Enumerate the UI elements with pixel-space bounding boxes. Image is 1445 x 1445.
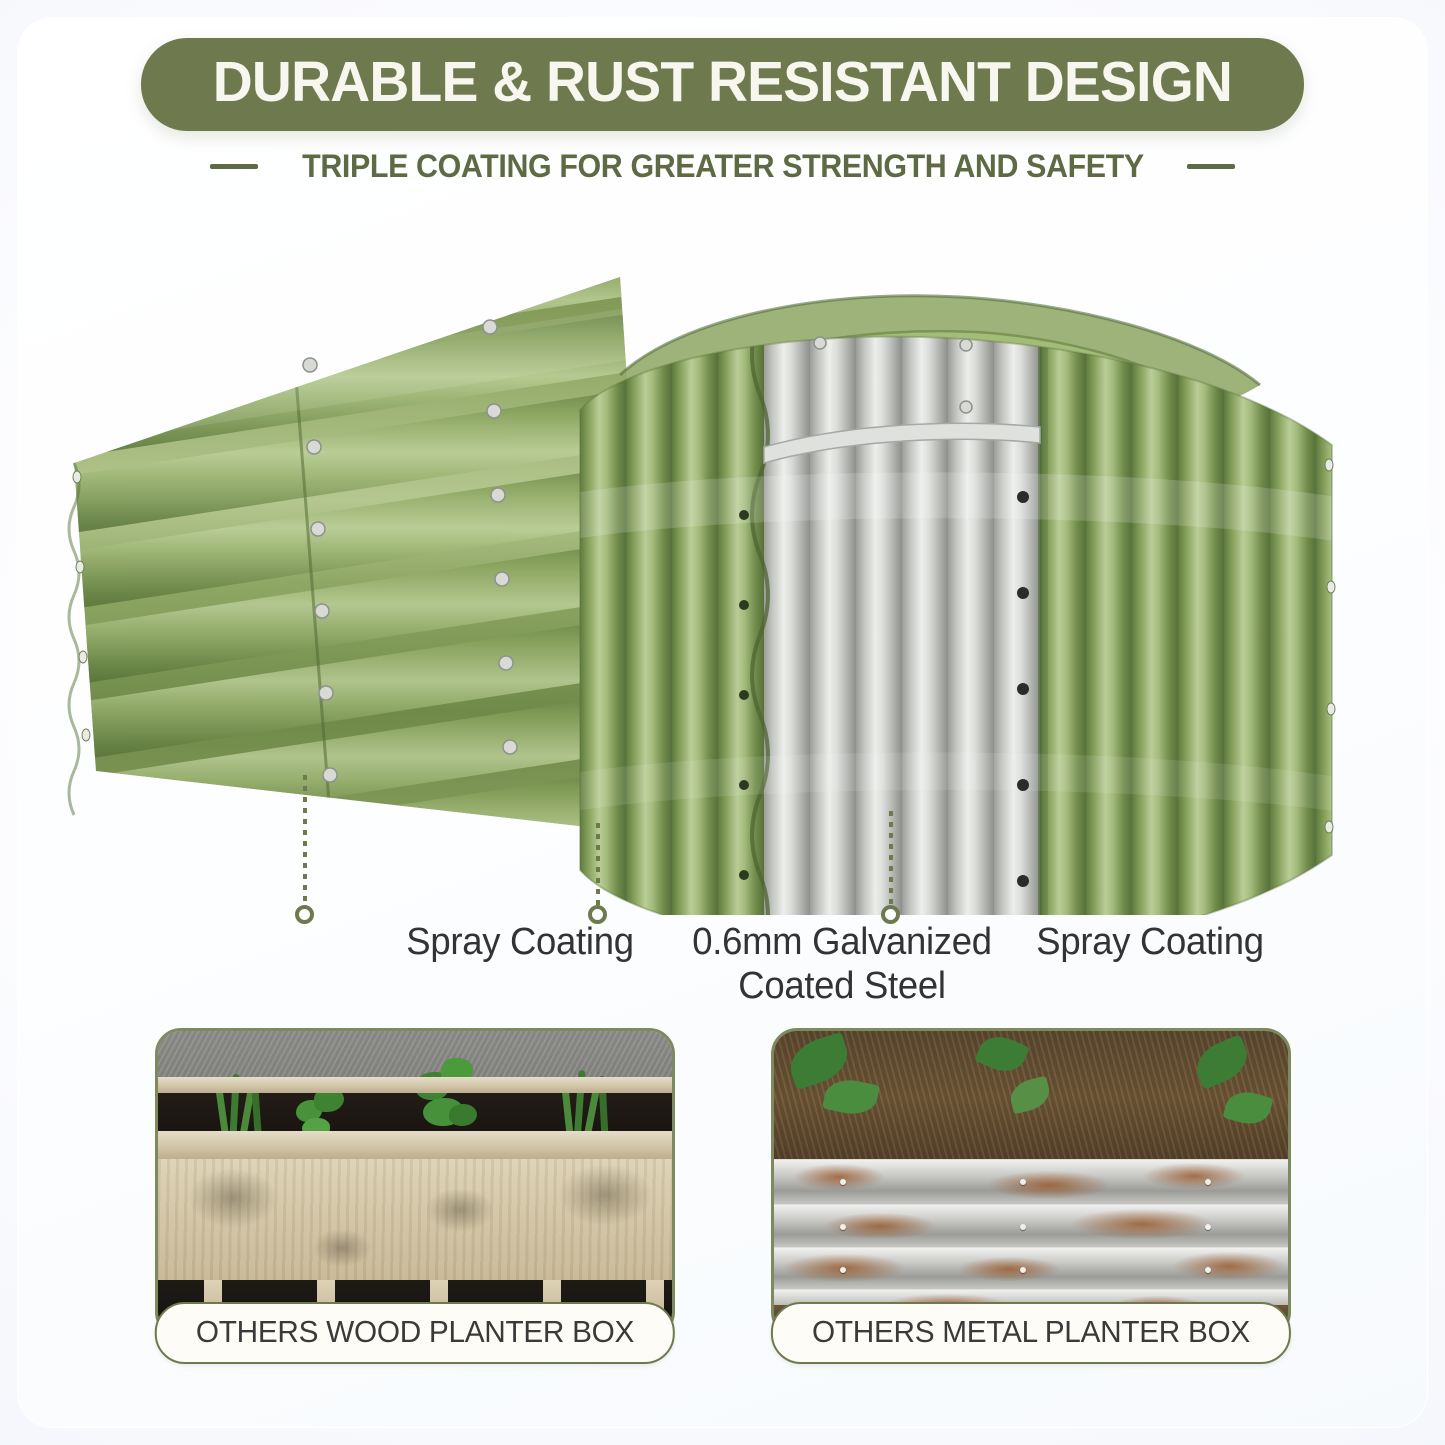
dash-right-icon bbox=[1187, 164, 1235, 169]
flat-green-panel bbox=[60, 233, 660, 915]
cylinder-cutaway bbox=[560, 296, 1362, 915]
dash-left-icon bbox=[210, 164, 258, 169]
leader-line-2 bbox=[596, 823, 600, 905]
caption-metal-planter: OTHERS METAL PLANTER BOX bbox=[770, 1302, 1290, 1364]
corrugated-panel-cutaway-graphic bbox=[60, 215, 1390, 915]
caption-text: OTHERS METAL PLANTER BOX bbox=[812, 1314, 1250, 1350]
callout-text-line1: 0.6mm Galvanized bbox=[679, 920, 1005, 964]
callout-text: Spray Coating bbox=[1006, 920, 1294, 964]
metal-planter-photo bbox=[771, 1028, 1291, 1338]
metal-band-2 bbox=[774, 1204, 1288, 1247]
ribs-left-green bbox=[580, 315, 764, 915]
metal-band-3 bbox=[774, 1247, 1288, 1290]
callout-label-spray-coating-left: Spray Coating bbox=[376, 920, 664, 964]
leader-line-1 bbox=[303, 775, 307, 903]
header-banner-wrap: DURABLE & RUST RESISTANT DESIGN bbox=[0, 38, 1445, 131]
wood-planter-photo bbox=[155, 1028, 675, 1338]
subtitle-row: TRIPLE COATING FOR GREATER STRENGTH AND … bbox=[0, 148, 1445, 185]
leader-line-3 bbox=[889, 811, 893, 905]
comparison-row: OTHERS WOOD PLANTER BOX bbox=[0, 1028, 1445, 1338]
page-subtitle: TRIPLE COATING FOR GREATER STRENGTH AND … bbox=[302, 148, 1144, 185]
callout-label-galvanized-steel: 0.6mm Galvanized Coated Steel bbox=[679, 920, 1005, 1009]
page-title: DURABLE & RUST RESISTANT DESIGN bbox=[213, 54, 1232, 111]
infographic-page: DURABLE & RUST RESISTANT DESIGN TRIPLE C… bbox=[0, 0, 1445, 1445]
caption-wood-planter: OTHERS WOOD PLANTER BOX bbox=[154, 1302, 674, 1364]
caption-text: OTHERS WOOD PLANTER BOX bbox=[195, 1314, 633, 1350]
callout-text-line2: Coated Steel bbox=[679, 964, 1005, 1008]
ribs-center-silver bbox=[764, 315, 1040, 915]
header-banner: DURABLE & RUST RESISTANT DESIGN bbox=[141, 38, 1304, 131]
leader-dot-1 bbox=[295, 905, 314, 924]
comparison-card-metal: OTHERS METAL PLANTER BOX bbox=[771, 1028, 1291, 1338]
comparison-card-wood: OTHERS WOOD PLANTER BOX bbox=[155, 1028, 675, 1338]
ribs-right-green bbox=[1040, 315, 1362, 915]
callout-text: Spray Coating bbox=[376, 920, 664, 964]
callout-label-spray-coating-right: Spray Coating bbox=[1006, 920, 1294, 964]
metal-band-1 bbox=[774, 1159, 1288, 1205]
hero-product-illustration bbox=[60, 215, 1390, 915]
